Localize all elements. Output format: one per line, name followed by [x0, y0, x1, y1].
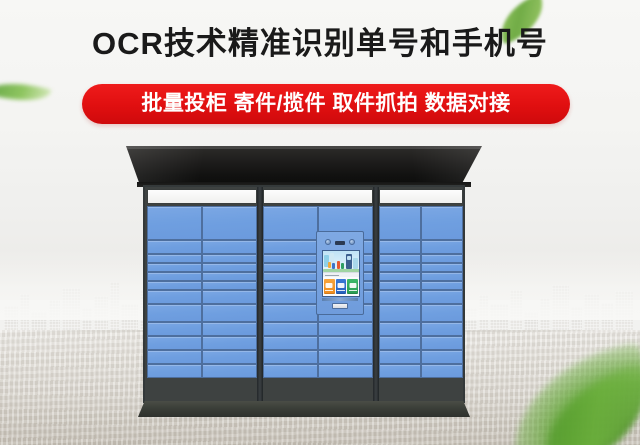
locker-door[interactable] [263, 272, 318, 281]
locker-row [147, 290, 257, 304]
screen-action-buttons [323, 277, 359, 296]
camera-lens-icon [325, 239, 331, 245]
pickup-tray-slot[interactable] [332, 303, 348, 309]
locker-door[interactable] [421, 322, 463, 336]
locker-row [379, 263, 463, 272]
locker-door[interactable] [147, 240, 202, 254]
locker-door[interactable] [318, 350, 373, 364]
locker-door[interactable] [421, 364, 463, 378]
locker-door[interactable] [147, 322, 202, 336]
locker-door[interactable] [421, 240, 463, 254]
locker-door[interactable] [202, 272, 257, 281]
locker-door-grid-left [147, 206, 257, 404]
feature-banner: 批量投柜 寄件/揽件 取件抓拍 数据对接 [82, 84, 570, 124]
canopy-sheen [126, 146, 482, 186]
locker-section-left [147, 187, 257, 405]
locker-door[interactable] [379, 364, 421, 378]
kiosk-terminal[interactable] [316, 231, 364, 315]
locker-door[interactable] [263, 254, 318, 263]
locker-row [263, 322, 373, 336]
locker-door[interactable] [147, 281, 202, 290]
locker-door[interactable] [379, 304, 421, 322]
locker-door[interactable] [202, 304, 257, 322]
cabinet-body [143, 185, 465, 403]
locker-row [379, 254, 463, 263]
locker-door[interactable] [263, 322, 318, 336]
screen-button-query[interactable] [347, 279, 358, 294]
locker-door[interactable] [421, 336, 463, 350]
screen-illustration-banner [323, 251, 359, 272]
feature-banner-label: 批量投柜 寄件/揽件 取件抓拍 数据对接 [141, 84, 510, 124]
locker-door[interactable] [147, 364, 202, 378]
locker-door[interactable] [202, 364, 257, 378]
locker-row [147, 240, 257, 254]
locker-door[interactable] [263, 364, 318, 378]
locker-row [379, 290, 463, 304]
locker-door[interactable] [263, 206, 318, 240]
locker-section-right [379, 187, 463, 405]
locker-door[interactable] [147, 263, 202, 272]
locker-door[interactable] [202, 350, 257, 364]
locker-door[interactable] [421, 206, 463, 240]
locker-door[interactable] [202, 263, 257, 272]
locker-door[interactable] [263, 240, 318, 254]
camera-module [317, 238, 363, 246]
locker-door[interactable] [379, 290, 421, 304]
locker-door[interactable] [379, 281, 421, 290]
locker-door[interactable] [379, 254, 421, 263]
locker-door[interactable] [147, 304, 202, 322]
section-header-strip-left [147, 189, 257, 204]
locker-door[interactable] [318, 336, 373, 350]
locker-door[interactable] [379, 240, 421, 254]
kiosk-screen[interactable] [322, 250, 360, 297]
locker-row [147, 364, 257, 378]
locker-door[interactable] [263, 336, 318, 350]
locker-row [379, 206, 463, 240]
locker-door[interactable] [421, 290, 463, 304]
locker-row [147, 272, 257, 281]
locker-row [147, 304, 257, 322]
locker-row [379, 304, 463, 322]
locker-door[interactable] [147, 350, 202, 364]
locker-door[interactable] [202, 281, 257, 290]
locker-row [379, 350, 463, 364]
smart-locker-cabinet [0, 0, 640, 445]
section-header-strip-center [263, 189, 373, 204]
locker-door[interactable] [421, 272, 463, 281]
locker-row [147, 263, 257, 272]
locker-row [147, 350, 257, 364]
locker-door[interactable] [263, 290, 318, 304]
locker-row [379, 364, 463, 378]
locker-row [147, 281, 257, 290]
locker-row [147, 206, 257, 240]
locker-door[interactable] [147, 336, 202, 350]
locker-door[interactable] [202, 336, 257, 350]
locker-door[interactable] [202, 206, 257, 240]
locker-door[interactable] [421, 304, 463, 322]
locker-door[interactable] [379, 350, 421, 364]
locker-row [147, 254, 257, 263]
locker-door[interactable] [147, 206, 202, 240]
locker-door[interactable] [263, 263, 318, 272]
locker-door[interactable] [147, 272, 202, 281]
locker-row [379, 336, 463, 350]
locker-door[interactable] [379, 206, 421, 240]
locker-row [379, 322, 463, 336]
locker-door[interactable] [202, 290, 257, 304]
promo-banner-image: OCR技术精准识别单号和手机号 批量投柜 寄件/揽件 取件抓拍 数据对接 [0, 0, 640, 445]
kiosk-accent-strip [322, 298, 358, 301]
locker-door[interactable] [147, 254, 202, 263]
locker-door[interactable] [318, 364, 373, 378]
scanner-lens-icon [349, 239, 355, 245]
locker-door[interactable] [318, 322, 373, 336]
locker-door[interactable] [421, 254, 463, 263]
locker-door-grid-right [379, 206, 463, 404]
section-header-strip-right [379, 189, 463, 204]
locker-row [379, 281, 463, 290]
locker-door[interactable] [379, 263, 421, 272]
locker-row [263, 336, 373, 350]
card-slot-icon [335, 241, 345, 245]
locker-door[interactable] [202, 254, 257, 263]
locker-row [263, 364, 373, 378]
cabinet-base [138, 401, 470, 417]
locker-door[interactable] [202, 322, 257, 336]
locker-row [147, 322, 257, 336]
locker-row [147, 336, 257, 350]
screen-button-pickup[interactable] [336, 279, 347, 294]
locker-door[interactable] [379, 322, 421, 336]
locker-door[interactable] [202, 240, 257, 254]
locker-door[interactable] [379, 272, 421, 281]
locker-row [263, 350, 373, 364]
locker-row [379, 240, 463, 254]
locker-door[interactable] [263, 350, 318, 364]
locker-door[interactable] [421, 281, 463, 290]
page-title: OCR技术精准识别单号和手机号 [0, 24, 640, 64]
locker-door[interactable] [421, 263, 463, 272]
locker-door[interactable] [263, 304, 318, 322]
locker-door[interactable] [147, 290, 202, 304]
screen-button-send[interactable] [324, 279, 335, 294]
locker-door[interactable] [379, 336, 421, 350]
locker-door[interactable] [421, 350, 463, 364]
locker-row [379, 272, 463, 281]
locker-door[interactable] [263, 281, 318, 290]
